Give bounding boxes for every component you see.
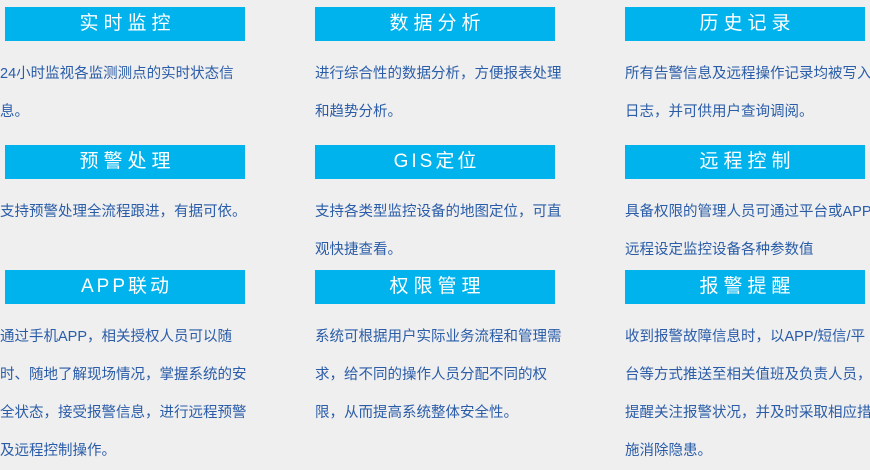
card-title-early-warning-handling: 预警处理 <box>5 145 245 179</box>
card-description-data-analysis: 进行综合性的数据分析，方便报表处理和趋势分析。 <box>315 55 565 131</box>
feature-card-gis-positioning[interactable]: GIS定位 支持各类型监控设备的地图定位，可直观快捷查看。 <box>310 145 570 269</box>
card-description-realtime-monitoring: 24小时监视各监测测点的实时状态信息。 <box>0 55 258 131</box>
feature-card-data-analysis[interactable]: 数据分析 进行综合性的数据分析，方便报表处理和趋势分析。 <box>310 7 570 131</box>
card-description-permission-management: 系统可根据用户实际业务流程和管理需求，给不同的操作人员分配不同的权限，从而提高系… <box>315 318 565 432</box>
feature-card-app-linkage[interactable]: APP联动 通过手机APP，相关授权人员可以随时、随地了解现场情况，掌握系统的安… <box>0 270 260 470</box>
feature-card-grid: 实时监控 24小时监视各监测测点的实时状态信息。 数据分析 进行综合性的数据分析… <box>0 0 870 450</box>
card-title-data-analysis: 数据分析 <box>315 7 555 41</box>
feature-card-permission-management[interactable]: 权限管理 系统可根据用户实际业务流程和管理需求，给不同的操作人员分配不同的权限，… <box>310 270 570 432</box>
card-title-permission-management: 权限管理 <box>315 270 555 304</box>
card-title-gis-positioning: GIS定位 <box>315 145 555 179</box>
feature-card-alarm-reminder[interactable]: 报警提醒 收到报警故障信息时，以APP/短信/平台等方式推送至相关值班及负责人员… <box>620 270 870 470</box>
feature-card-remote-control[interactable]: 远程控制 具备权限的管理人员可通过平台或APP远程设定监控设备各种参数值 <box>620 145 870 269</box>
card-description-gis-positioning: 支持各类型监控设备的地图定位，可直观快捷查看。 <box>315 193 565 269</box>
card-title-app-linkage: APP联动 <box>5 270 245 304</box>
feature-card-history-record[interactable]: 历史记录 所有告警信息及远程操作记录均被写入日志，并可供用户查询调阅。 <box>620 7 870 131</box>
card-description-early-warning-handling: 支持预警处理全流程跟进，有据可依。 <box>0 193 258 231</box>
card-title-history-record: 历史记录 <box>625 7 865 41</box>
card-description-alarm-reminder: 收到报警故障信息时，以APP/短信/平台等方式推送至相关值班及负责人员，提醒关注… <box>625 318 870 470</box>
feature-card-early-warning-handling[interactable]: 预警处理 支持预警处理全流程跟进，有据可依。 <box>0 145 260 231</box>
card-title-alarm-reminder: 报警提醒 <box>625 270 865 304</box>
feature-card-realtime-monitoring[interactable]: 实时监控 24小时监视各监测测点的实时状态信息。 <box>0 7 260 131</box>
card-description-history-record: 所有告警信息及远程操作记录均被写入日志，并可供用户查询调阅。 <box>625 55 870 131</box>
card-description-remote-control: 具备权限的管理人员可通过平台或APP远程设定监控设备各种参数值 <box>625 193 870 269</box>
card-title-remote-control: 远程控制 <box>625 145 865 179</box>
card-description-app-linkage: 通过手机APP，相关授权人员可以随时、随地了解现场情况，掌握系统的安全状态，接受… <box>0 318 258 470</box>
card-title-realtime-monitoring: 实时监控 <box>5 7 245 41</box>
